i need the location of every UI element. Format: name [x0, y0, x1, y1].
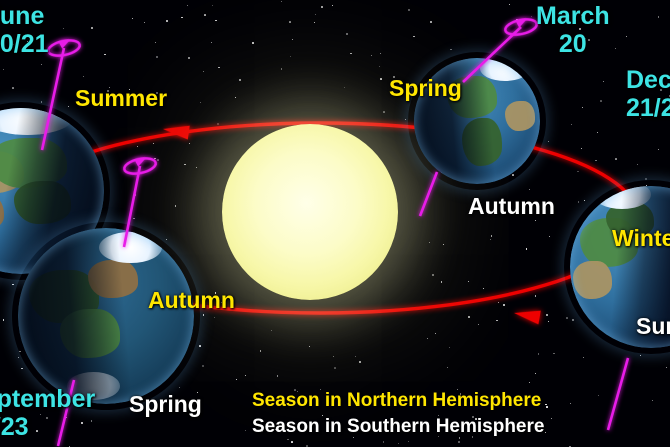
- legend-southern-hemisphere: Season in Southern Hemisphere: [252, 416, 544, 438]
- date-line-2: 22/23: [0, 413, 95, 441]
- date-label-june: June 20/21: [0, 2, 49, 58]
- date-line-1: March: [536, 2, 610, 30]
- season-label-march-north: Spring: [389, 76, 462, 102]
- date-label-march: March 20: [536, 2, 610, 58]
- date-line-1: September: [0, 385, 95, 413]
- label-layer: June 20/21 Summer March 20 Spring Autumn…: [0, 0, 670, 447]
- date-line-1: December: [626, 66, 670, 94]
- season-label-september-north: Autumn: [148, 288, 235, 314]
- date-line-2: 20: [536, 30, 610, 58]
- date-label-december: December 21/22: [626, 66, 670, 122]
- seasons-diagram: June 20/21 Summer March 20 Spring Autumn…: [0, 0, 670, 447]
- date-line-2: 21/22: [626, 94, 670, 122]
- legend-northern-hemisphere: Season in Northern Hemisphere: [252, 390, 541, 412]
- date-line-1: June: [0, 2, 49, 30]
- season-label-march-south: Autumn: [468, 194, 555, 220]
- season-label-december-north: Winter: [612, 226, 670, 252]
- season-label-december-south: Summer: [636, 314, 670, 340]
- date-line-2: 20/21: [0, 30, 49, 58]
- date-label-september: September 22/23: [0, 385, 95, 441]
- season-label-june-north: Summer: [75, 86, 167, 112]
- season-label-september-south: Spring: [129, 392, 202, 418]
